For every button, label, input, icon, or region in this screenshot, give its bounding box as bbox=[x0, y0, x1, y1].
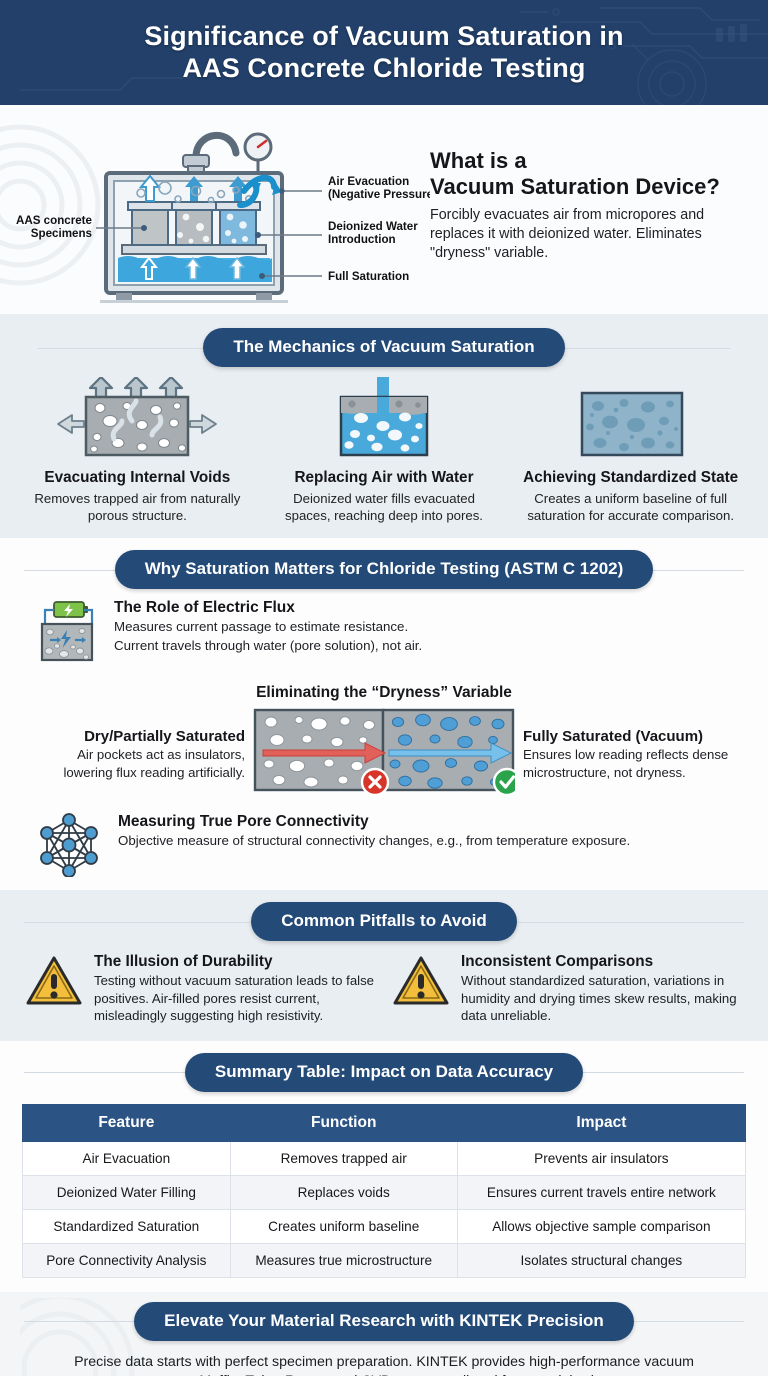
dry-partially-saturated-text: Dry/Partially Saturated Air pockets act … bbox=[35, 728, 253, 781]
intro-heading-line1: What is a bbox=[430, 148, 527, 173]
fully-saturated-text: Fully Saturated (Vacuum) Ensures low rea… bbox=[515, 728, 733, 781]
table-cell: Allows objective sample comparison bbox=[457, 1209, 745, 1243]
pitfall-item-2-title: Inconsistent Comparisons bbox=[461, 953, 746, 971]
table-col-feature: Feature bbox=[23, 1104, 231, 1141]
intro-text-block: What is a Vacuum Saturation Device? Forc… bbox=[430, 113, 768, 308]
callout-air-evacuation-line1: Air Evacuation bbox=[328, 175, 409, 188]
table-col-function: Function bbox=[230, 1104, 457, 1141]
electric-flux-line1: Measures current passage to estimate res… bbox=[114, 618, 422, 636]
header-banner: Significance of Vacuum Saturation in AAS… bbox=[0, 0, 768, 105]
pitfalls-section-title: Common Pitfalls to Avoid bbox=[251, 902, 517, 941]
mechanics-item-3: Achieving Standardized State Creates a u… bbox=[507, 377, 754, 524]
network-nodes-icon bbox=[34, 813, 104, 882]
dry-side-title: Dry/Partially Saturated bbox=[35, 728, 245, 745]
mechanics-item-1-title: Evacuating Internal Voids bbox=[22, 469, 253, 487]
cta-body: Precise data starts with perfect specime… bbox=[0, 1341, 768, 1376]
table-cell: Measures true microstructure bbox=[230, 1243, 457, 1277]
vacuum-device-illustration: AAS concrete Specimens Air Evacuation (N… bbox=[0, 113, 430, 308]
pitfall-item-1-body: Testing without vacuum saturation leads … bbox=[94, 972, 379, 1024]
intro-section: AAS concrete Specimens Air Evacuation (N… bbox=[0, 105, 768, 314]
table-cell: Prevents air insulators bbox=[457, 1141, 745, 1175]
table-cell: Replaces voids bbox=[230, 1175, 457, 1209]
pore-connectivity-text: Measuring True Pore Connectivity Objecti… bbox=[118, 813, 630, 850]
table-cell: Air Evacuation bbox=[23, 1141, 231, 1175]
dryness-subsection-title: Eliminating the “Dryness” Variable bbox=[0, 684, 768, 702]
table-col-impact: Impact bbox=[457, 1104, 745, 1141]
pore-connectivity-row: Measuring True Pore Connectivity Objecti… bbox=[0, 803, 768, 882]
table-cell: Deionized Water Filling bbox=[23, 1175, 231, 1209]
table-cell: Creates uniform baseline bbox=[230, 1209, 457, 1243]
table-cell: Removes trapped air bbox=[230, 1141, 457, 1175]
pitfall-item-1-text: The Illusion of Durability Testing witho… bbox=[94, 953, 379, 1024]
why-pill-wrap: Why Saturation Matters for Chloride Test… bbox=[0, 550, 768, 589]
pitfall-item-1-title: The Illusion of Durability bbox=[94, 953, 379, 971]
pitfall-item-1: The Illusion of Durability Testing witho… bbox=[26, 953, 379, 1024]
mechanics-section-title: The Mechanics of Vacuum Saturation bbox=[203, 328, 564, 367]
pitfall-item-2-text: Inconsistent Comparisons Without standar… bbox=[461, 953, 746, 1024]
summary-table-section: Summary Table: Impact on Data Accuracy F… bbox=[0, 1041, 768, 1292]
fully-saturated-title: Fully Saturated (Vacuum) bbox=[523, 728, 733, 745]
pore-connectivity-body: Objective measure of structural connecti… bbox=[118, 832, 630, 850]
electric-flux-text: The Role of Electric Flux Measures curre… bbox=[114, 599, 422, 655]
table-cell: Isolates structural changes bbox=[457, 1243, 745, 1277]
electric-flux-row: The Role of Electric Flux Measures curre… bbox=[0, 589, 768, 670]
replacing-air-water-art bbox=[269, 377, 500, 459]
pitfalls-pill-wrap: Common Pitfalls to Avoid bbox=[0, 902, 768, 941]
callout-deionized-line2: Introduction bbox=[328, 233, 396, 246]
vacuum-chamber-diagram: AAS concrete Specimens Air Evacuation (N… bbox=[0, 113, 430, 303]
cta-section: Elevate Your Material Research with KINT… bbox=[0, 1292, 768, 1376]
callout-deionized-line1: Deionized Water bbox=[328, 220, 418, 233]
battery-concrete-icon bbox=[34, 599, 100, 670]
warning-triangle-icon bbox=[393, 955, 449, 1012]
summary-table: Feature Function Impact Air Evacuation R… bbox=[22, 1104, 746, 1278]
dryness-comparison-art bbox=[253, 706, 515, 803]
warning-triangle-icon bbox=[26, 955, 82, 1012]
pitfalls-columns: The Illusion of Durability Testing witho… bbox=[0, 941, 768, 1024]
electric-flux-line2: Current travels through water (pore solu… bbox=[114, 637, 422, 655]
table-cell: Ensures current travels entire network bbox=[457, 1175, 745, 1209]
mechanics-item-1: Evacuating Internal Voids Removes trappe… bbox=[14, 377, 261, 524]
table-cell: Standardized Saturation bbox=[23, 1209, 231, 1243]
mechanics-item-2: Replacing Air with Water Deionized water… bbox=[261, 377, 508, 524]
dry-side-body: Air pockets act as insulators, lowering … bbox=[35, 746, 245, 781]
callout-specimens-line1: AAS concrete bbox=[16, 214, 93, 227]
page-title-line2: AAS Concrete Chloride Testing bbox=[183, 53, 586, 83]
page-title: Significance of Vacuum Saturation in AAS… bbox=[116, 21, 651, 85]
pitfall-item-2-body: Without standardized saturation, variati… bbox=[461, 972, 746, 1024]
mechanics-item-2-body: Deionized water fills evacuated spaces, … bbox=[269, 490, 500, 524]
summary-table-title: Summary Table: Impact on Data Accuracy bbox=[185, 1053, 583, 1092]
mechanics-item-3-title: Achieving Standardized State bbox=[515, 469, 746, 487]
table-cell: Pore Connectivity Analysis bbox=[23, 1243, 231, 1277]
why-section: Why Saturation Matters for Chloride Test… bbox=[0, 538, 768, 890]
intro-body: Forcibly evacuates air from micropores a… bbox=[430, 206, 750, 263]
callout-full-saturation: Full Saturation bbox=[328, 270, 409, 283]
callout-air-evacuation-line2: (Negative Pressure) bbox=[328, 188, 430, 201]
pore-connectivity-title: Measuring True Pore Connectivity bbox=[118, 813, 630, 831]
table-row: Pore Connectivity Analysis Measures true… bbox=[23, 1243, 746, 1277]
fully-saturated-body: Ensures low reading reflects dense micro… bbox=[523, 746, 733, 781]
table-header-row: Feature Function Impact bbox=[23, 1104, 746, 1141]
why-section-title: Why Saturation Matters for Chloride Test… bbox=[115, 550, 654, 589]
pitfalls-section: Common Pitfalls to Avoid The Illusion of… bbox=[0, 890, 768, 1040]
evacuating-voids-art bbox=[22, 377, 253, 459]
cta-body-line1: Precise data starts with perfect specime… bbox=[26, 1353, 742, 1372]
cta-body-line2: systems, Muffle, Tube, Rotary, and CVD s… bbox=[26, 1372, 742, 1376]
standardized-state-art bbox=[515, 377, 746, 459]
check-marker-icon bbox=[494, 769, 515, 795]
dryness-comparison-row: Dry/Partially Saturated Air pockets act … bbox=[0, 702, 768, 803]
cta-pill-wrap: Elevate Your Material Research with KINT… bbox=[0, 1302, 768, 1341]
page-title-line1: Significance of Vacuum Saturation in bbox=[144, 21, 623, 51]
mechanics-section: The Mechanics of Vacuum Saturation bbox=[0, 314, 768, 538]
table-row: Standardized Saturation Creates uniform … bbox=[23, 1209, 746, 1243]
pitfall-item-2: Inconsistent Comparisons Without standar… bbox=[393, 953, 746, 1024]
summary-pill-wrap: Summary Table: Impact on Data Accuracy bbox=[0, 1053, 768, 1092]
mechanics-item-1-body: Removes trapped air from naturally porou… bbox=[22, 490, 253, 524]
intro-heading: What is a Vacuum Saturation Device? bbox=[430, 148, 750, 199]
mechanics-pill-wrap: The Mechanics of Vacuum Saturation bbox=[14, 328, 754, 367]
cta-title: Elevate Your Material Research with KINT… bbox=[134, 1302, 634, 1341]
mechanics-item-2-title: Replacing Air with Water bbox=[269, 469, 500, 487]
mechanics-item-3-body: Creates a uniform baseline of full satur… bbox=[515, 490, 746, 524]
electric-flux-title: The Role of Electric Flux bbox=[114, 599, 422, 617]
infographic-page: Significance of Vacuum Saturation in AAS… bbox=[0, 0, 768, 1376]
table-row: Air Evacuation Removes trapped air Preve… bbox=[23, 1141, 746, 1175]
callout-specimens-line2: Specimens bbox=[31, 227, 92, 240]
intro-heading-line2: Vacuum Saturation Device? bbox=[430, 174, 720, 199]
table-row: Deionized Water Filling Replaces voids E… bbox=[23, 1175, 746, 1209]
mechanics-columns: Evacuating Internal Voids Removes trappe… bbox=[14, 377, 754, 524]
